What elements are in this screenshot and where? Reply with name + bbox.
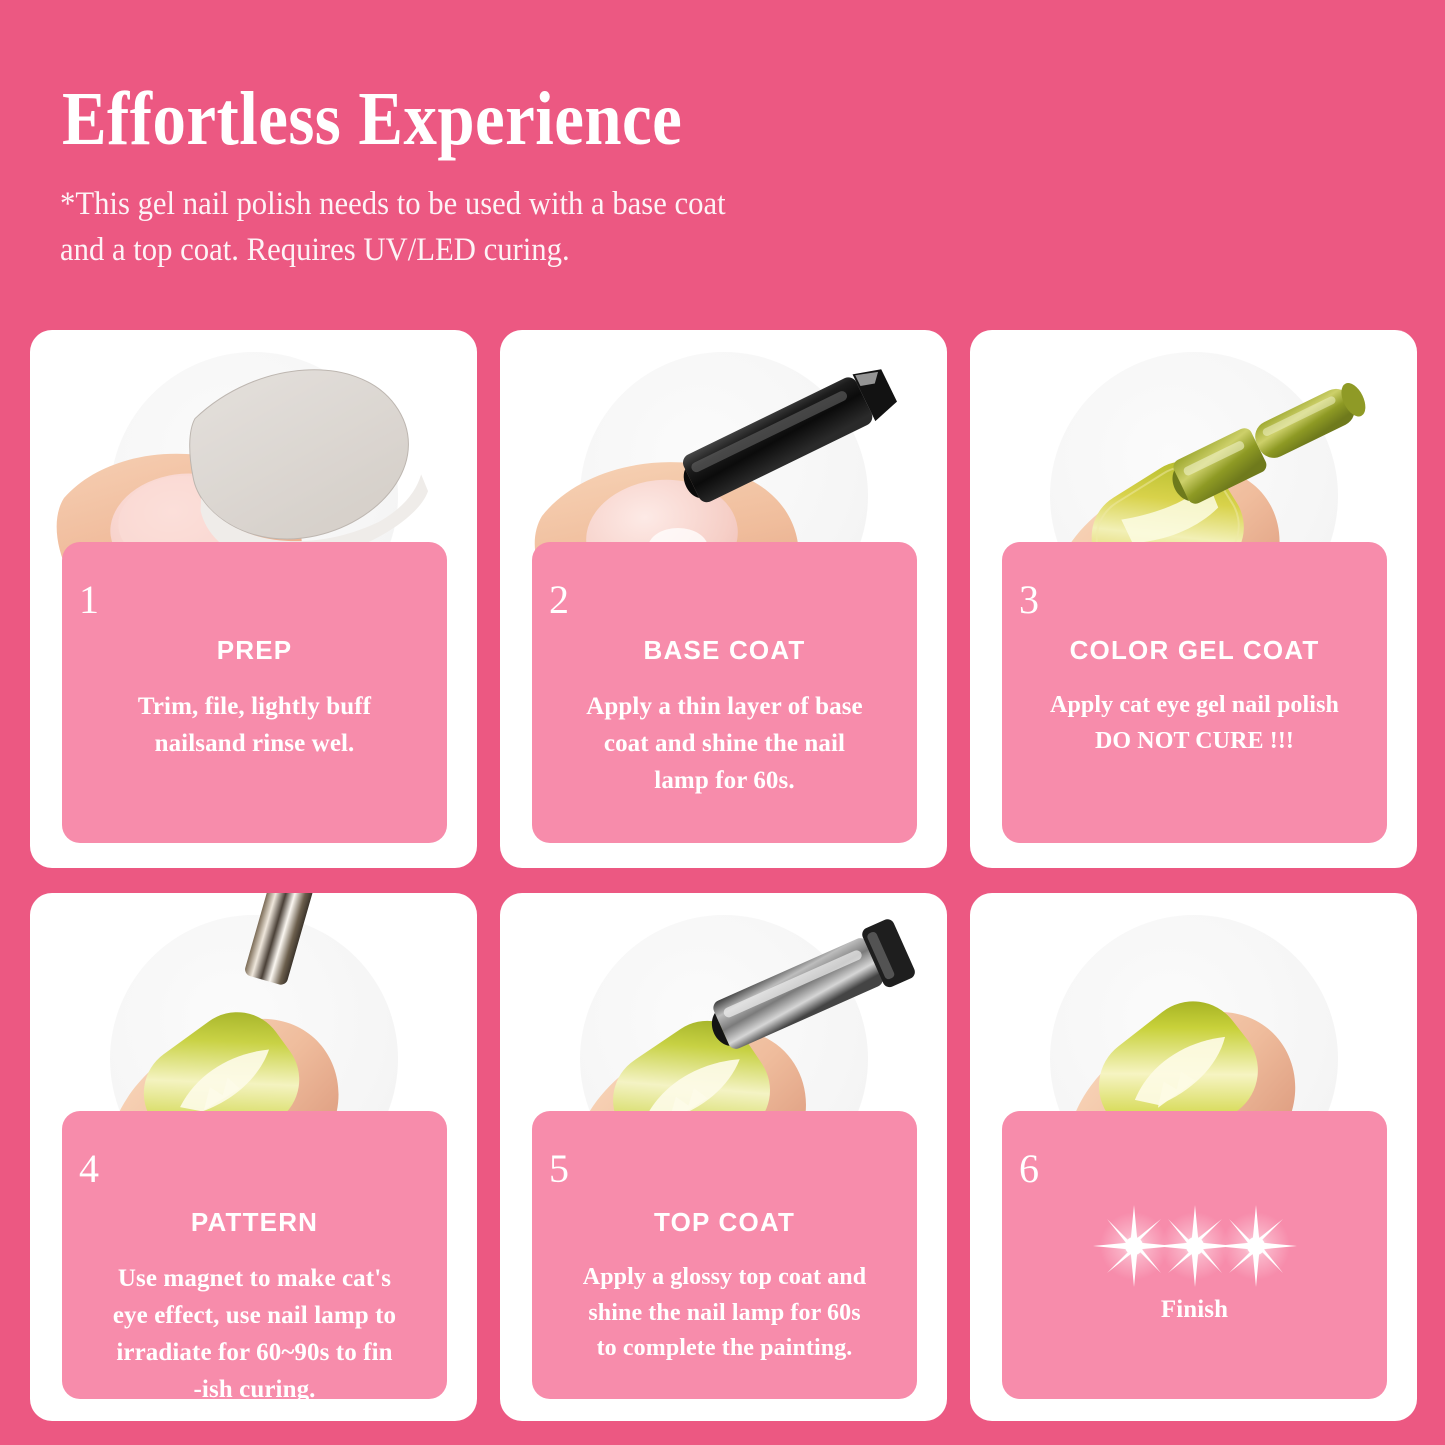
step-content-5: TOP COAT Apply a glossy top coat and shi… — [548, 1207, 901, 1367]
step-number-4: 4 — [79, 1149, 99, 1189]
step-panel-3: 3 COLOR GEL COAT Apply cat eye gel nail … — [1002, 542, 1387, 843]
step-panel-4: 4 PATTERN Use magnet to make cat's eye e… — [62, 1111, 447, 1399]
header: Effortless Experience *This gel nail pol… — [62, 82, 1382, 274]
step-number-2: 2 — [549, 580, 569, 620]
step-number-5: 5 — [549, 1149, 569, 1189]
step-title-4: PATTERN — [78, 1207, 431, 1238]
step-content-1: PREP Trim, file, lightly buff nailsand r… — [78, 635, 431, 762]
step-card-2[interactable]: 2 BASE COAT Apply a thin layer of base c… — [500, 330, 947, 868]
step-content-3: COLOR GEL COAT Apply cat eye gel nail po… — [1018, 635, 1371, 759]
step-number-6: 6 — [1019, 1149, 1039, 1189]
step-description-4: Use magnet to make cat's eye effect, use… — [78, 1260, 431, 1408]
step-title-5: TOP COAT — [548, 1207, 901, 1238]
step-description-2: Apply a thin layer of base coat and shin… — [548, 688, 901, 799]
step-title-3: COLOR GEL COAT — [1018, 635, 1371, 666]
step-number-1: 1 — [79, 580, 99, 620]
step-content-6: Finish — [1018, 1207, 1371, 1328]
step-panel-6: 6 — [1002, 1111, 1387, 1399]
page-subtitle: *This gel nail polish needs to be used w… — [60, 182, 1289, 273]
step-panel-5: 5 TOP COAT Apply a glossy top coat and s… — [532, 1111, 917, 1399]
sparkle-group — [1018, 1207, 1371, 1285]
step-card-5[interactable]: 5 TOP COAT Apply a glossy top coat and s… — [500, 893, 947, 1421]
step-description-6: Finish — [1018, 1291, 1371, 1328]
step-content-2: BASE COAT Apply a thin layer of base coa… — [548, 635, 901, 799]
step-card-1[interactable]: 1 PREP Trim, file, lightly buff nailsand… — [30, 330, 477, 868]
page-title: Effortless Experience — [62, 82, 1224, 156]
step-title-2: BASE COAT — [548, 635, 901, 666]
step-description-3: Apply cat eye gel nail polish DO NOT CUR… — [1018, 688, 1371, 759]
step-card-3[interactable]: 3 COLOR GEL COAT Apply cat eye gel nail … — [970, 330, 1417, 868]
step-title-1: PREP — [78, 635, 431, 666]
step-card-6[interactable]: 6 — [970, 893, 1417, 1421]
step-panel-1: 1 PREP Trim, file, lightly buff nailsand… — [62, 542, 447, 843]
step-card-4[interactable]: 4 PATTERN Use magnet to make cat's eye e… — [30, 893, 477, 1421]
step-number-3: 3 — [1019, 580, 1039, 620]
step-description-5: Apply a glossy top coat and shine the na… — [548, 1260, 901, 1367]
sparkle-icon — [1213, 1203, 1299, 1289]
step-panel-2: 2 BASE COAT Apply a thin layer of base c… — [532, 542, 917, 843]
step-description-1: Trim, file, lightly buff nailsand rinse … — [78, 688, 431, 762]
steps-grid: 1 PREP Trim, file, lightly buff nailsand… — [30, 330, 1416, 1420]
step-content-4: PATTERN Use magnet to make cat's eye eff… — [78, 1207, 431, 1408]
